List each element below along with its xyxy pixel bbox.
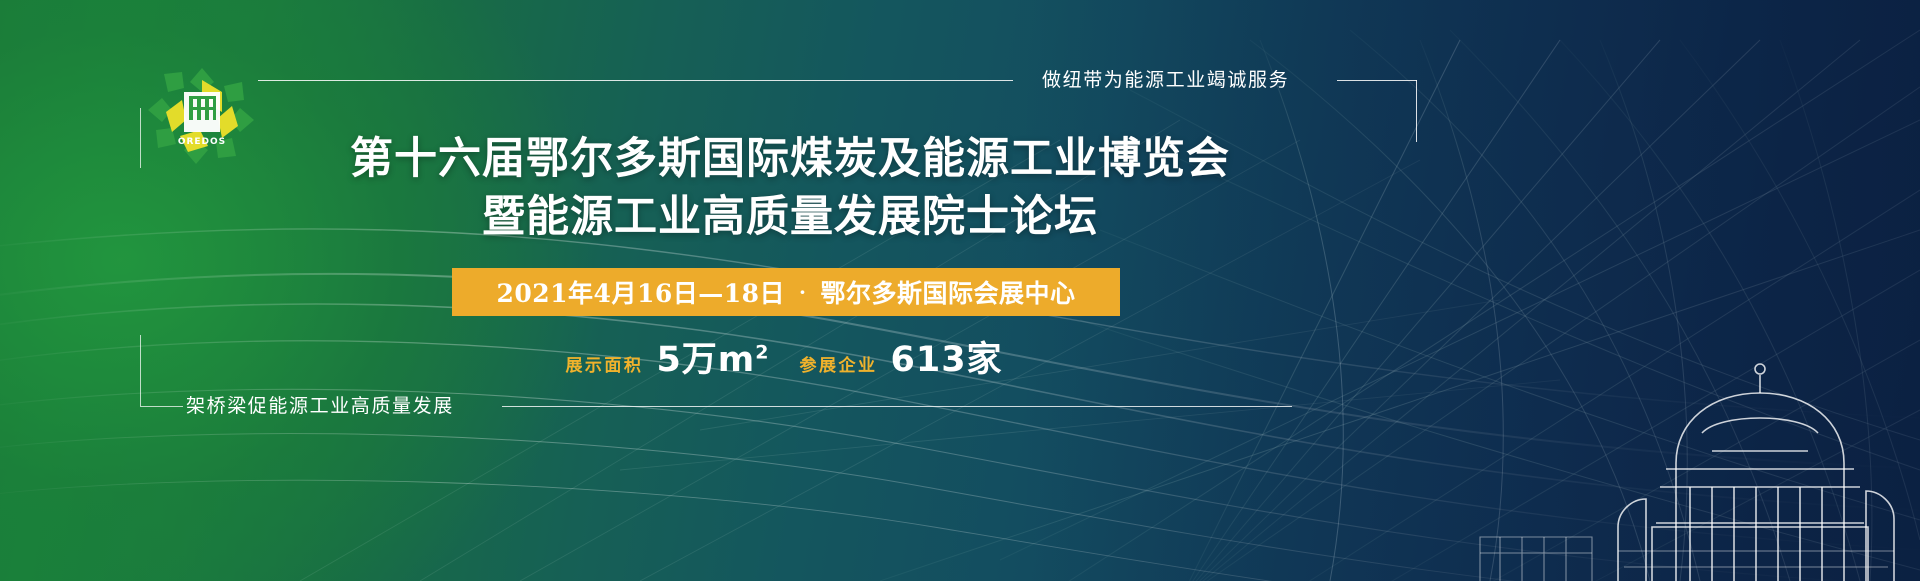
stat-value-text: 613家 xyxy=(891,340,1003,380)
event-banner: OREDOS 做纽带为能源工业竭诚服务 架桥梁促能源工业高质量发展 第十六届鄂尔… xyxy=(0,0,1920,581)
date-venue-bar: 2021年4月16日—18日 · 鄂尔多斯国际会展中心 xyxy=(452,268,1120,316)
stat-exhibitor-count: 参展企业 613家 xyxy=(800,340,1007,382)
event-venue: 鄂尔多斯国际会展中心 xyxy=(821,274,1076,310)
event-title-line-2: 暨能源工业高质量发展院士论坛 xyxy=(0,190,1580,244)
stat-value-text: 5万m xyxy=(656,340,755,380)
rule-bottom-left-vertical xyxy=(140,335,141,407)
event-date: 2021年4月16日—18日 xyxy=(496,274,785,310)
title-block: 第十六届鄂尔多斯国际煤炭及能源工业博览会 暨能源工业高质量发展院士论坛 xyxy=(0,132,1580,244)
date-venue-separator: · xyxy=(785,280,820,304)
stat-value: 613家 xyxy=(887,340,1007,382)
exhibition-center-silhouette xyxy=(1360,341,1920,581)
rule-bottom-left-horizontal xyxy=(141,406,183,407)
rule-top-right-horizontal xyxy=(1337,80,1417,81)
stat-exhibition-area: 展示面积 5万m2 xyxy=(565,340,773,382)
stats-row: 展示面积 5万m2 参展企业 613家 xyxy=(452,328,1120,382)
rule-top-horizontal xyxy=(258,80,1013,81)
event-title-line-1: 第十六届鄂尔多斯国际煤炭及能源工业博览会 xyxy=(0,132,1580,186)
stat-label: 参展企业 xyxy=(800,351,878,382)
stat-value-superscript: 2 xyxy=(755,341,769,363)
rule-bottom-horizontal xyxy=(502,406,1292,407)
stat-value: 5万m2 xyxy=(652,340,773,382)
stat-label: 展示面积 xyxy=(565,351,643,382)
tagline-bottom-left: 架桥梁促能源工业高质量发展 xyxy=(186,390,454,422)
tagline-top-right: 做纽带为能源工业竭诚服务 xyxy=(1042,64,1332,96)
